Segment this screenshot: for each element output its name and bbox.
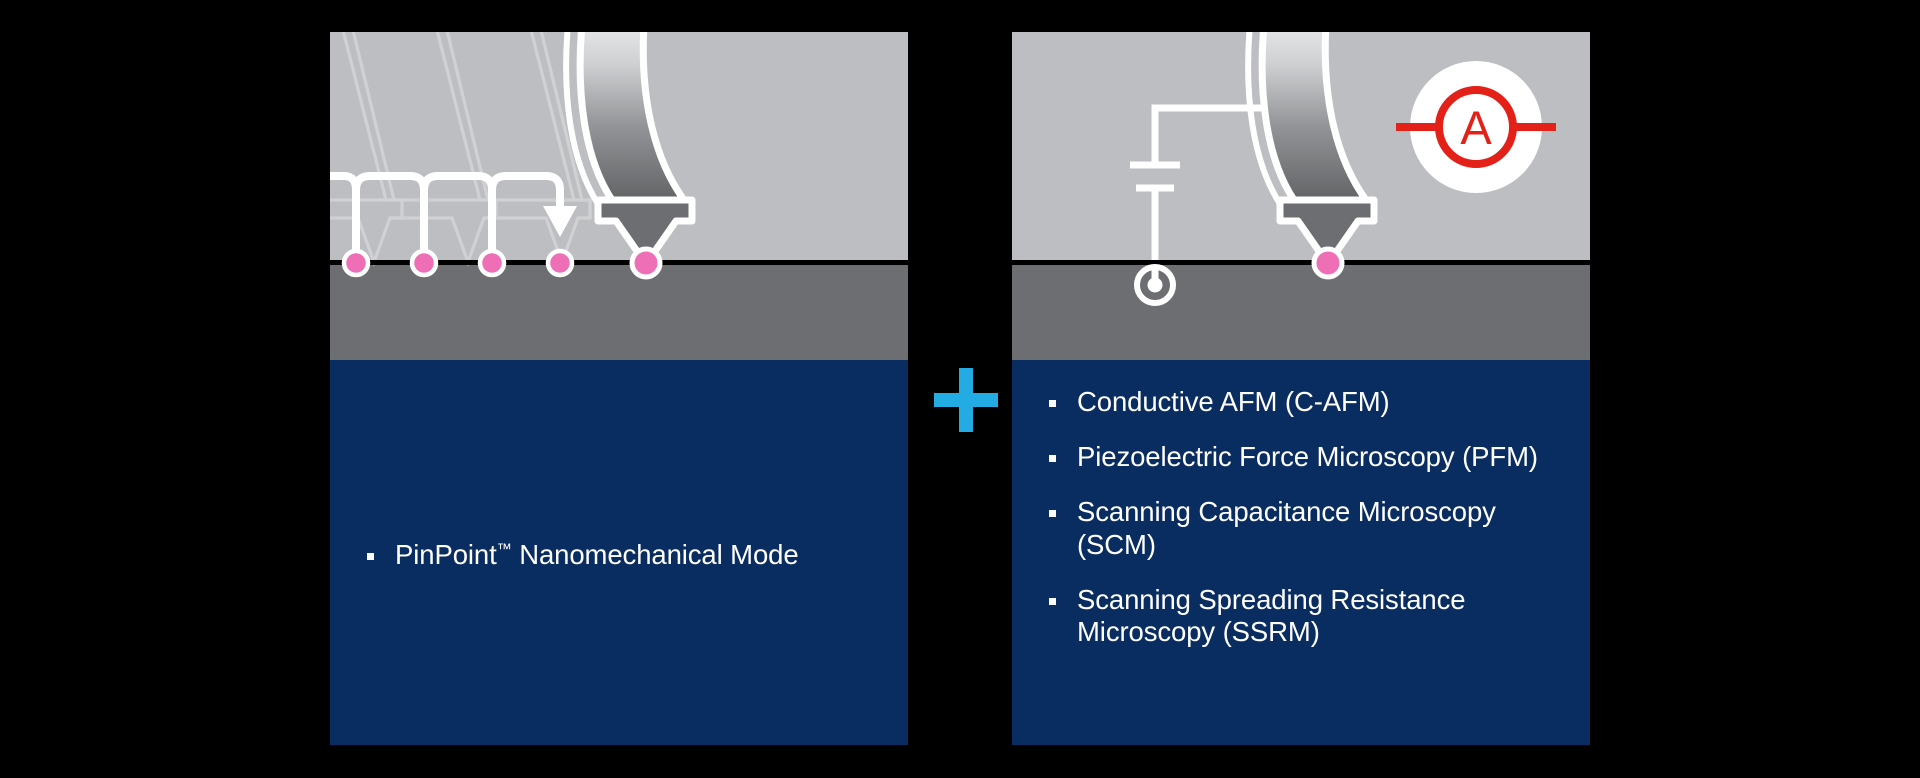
ammeter-icon: A [1396, 61, 1556, 193]
ground-terminal-icon [1137, 267, 1173, 303]
electrical-modes-bullet-list: Conductive AFM (C-AFM) Piezoelectric For… [1046, 386, 1556, 648]
pinpoint-nanomechanical-panel: PinPoint™ Nanomechanical Mode [330, 32, 908, 745]
list-item: Piezoelectric Force Microscopy (PFM) [1046, 441, 1556, 473]
contact-dots-layer [330, 32, 908, 360]
pinpoint-text-block: PinPoint™ Nanomechanical Mode [330, 360, 908, 745]
bullet-label-post: Nanomechanical Mode [512, 539, 799, 570]
electrical-modes-figure: A [1012, 32, 1590, 360]
list-item: Conductive AFM (C-AFM) [1046, 386, 1556, 418]
list-item: Scanning Spreading Resistance Microscopy… [1046, 584, 1556, 648]
electrical-modes-panel: A Conductive AFM (C-AFM) Piezoelectric F… [1012, 32, 1590, 745]
bullet-label-pre: PinPoint [395, 539, 497, 570]
trademark-symbol: ™ [497, 541, 512, 558]
pinpoint-figure [330, 32, 908, 360]
plus-vertical-bar [959, 368, 973, 432]
pinpoint-bullet-list: PinPoint™ Nanomechanical Mode [364, 539, 874, 571]
list-item: PinPoint™ Nanomechanical Mode [364, 539, 874, 571]
plus-connector-icon [934, 368, 998, 432]
contact-dot [344, 249, 660, 277]
list-item: Scanning Capacitance Microscopy (SCM) [1046, 496, 1556, 560]
diagram-canvas: PinPoint™ Nanomechanical Mode [0, 0, 1920, 778]
contact-dot [1314, 249, 1342, 277]
electrical-modes-text-block: Conductive AFM (C-AFM) Piezoelectric For… [1012, 360, 1590, 745]
ammeter-label: A [1460, 101, 1492, 154]
electrical-overlay-top: A [1012, 32, 1590, 360]
